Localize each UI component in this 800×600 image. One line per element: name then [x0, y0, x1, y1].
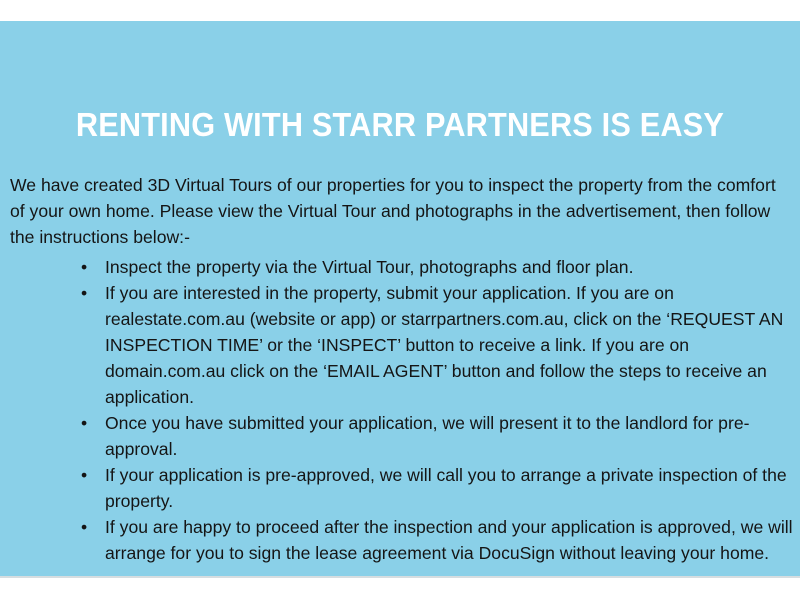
list-item: • If your application is pre-approved, w…: [78, 462, 794, 514]
list-item: • If you are interested in the property,…: [78, 280, 794, 410]
list-item-text: Once you have submitted your application…: [105, 410, 794, 462]
list-item: • Once you have submitted your applicati…: [78, 410, 794, 462]
page-title: RENTING WITH STARR PARTNERS IS EASY: [28, 105, 772, 145]
list-item-text: If you are happy to proceed after the in…: [105, 514, 794, 566]
bullet-point-icon: •: [81, 254, 95, 280]
bullet-point-icon: •: [81, 514, 95, 540]
bullet-point-icon: •: [81, 280, 95, 306]
list-item: • If you are happy to proceed after the …: [78, 514, 794, 566]
slide-page: RENTING WITH STARR PARTNERS IS EASY We h…: [0, 0, 800, 600]
instructions-list: • Inspect the property via the Virtual T…: [78, 254, 794, 566]
list-item-text: If you are interested in the property, s…: [105, 280, 794, 410]
list-item-text: Inspect the property via the Virtual Tou…: [105, 254, 794, 280]
intro-paragraph: We have created 3D Virtual Tours of our …: [10, 172, 794, 250]
slide-background-panel: RENTING WITH STARR PARTNERS IS EASY We h…: [0, 21, 800, 578]
bullet-point-icon: •: [81, 462, 95, 488]
list-item-text: If your application is pre-approved, we …: [105, 462, 794, 514]
bullet-point-icon: •: [81, 410, 95, 436]
list-item: • Inspect the property via the Virtual T…: [78, 254, 794, 280]
